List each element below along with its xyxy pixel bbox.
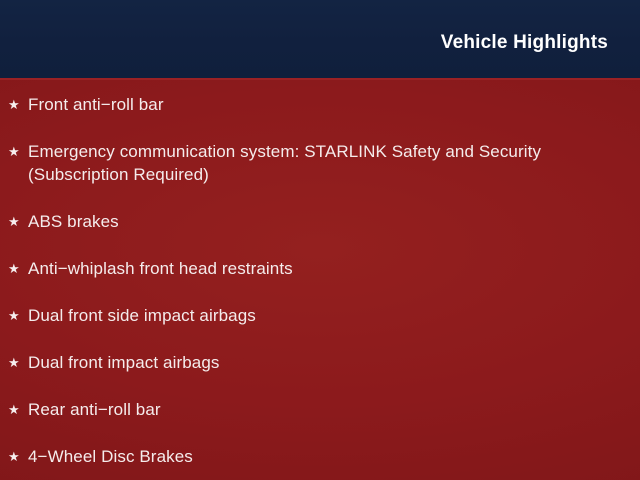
list-item: ★ Dual front impact airbags [0,351,640,374]
highlights-content-area: ★ Front anti−roll bar ★ Emergency commun… [0,80,640,480]
list-item-label: Emergency communication system: STARLINK… [28,140,606,186]
list-item-label: Anti−whiplash front head restraints [28,257,606,280]
list-item: ★ Rear anti−roll bar [0,398,640,421]
list-item: ★ Front anti−roll bar [0,93,640,116]
list-item-label: Rear anti−roll bar [28,398,606,421]
star-icon: ★ [8,210,22,233]
list-item-label: Front anti−roll bar [28,93,606,116]
star-icon: ★ [8,398,22,421]
star-icon: ★ [8,93,22,116]
star-icon: ★ [8,351,22,374]
list-item-label: 4−Wheel Disc Brakes [28,445,606,468]
page-title: Vehicle Highlights [441,33,608,52]
list-item: ★ ABS brakes [0,210,640,233]
list-item: ★ Dual front side impact airbags [0,304,640,327]
star-icon: ★ [8,140,22,163]
slide-header: Vehicle Highlights [0,0,640,78]
star-icon: ★ [8,257,22,280]
star-icon: ★ [8,445,22,468]
vehicle-highlights-slide: Vehicle Highlights ★ Front anti−roll bar… [0,0,640,480]
star-icon: ★ [8,304,22,327]
list-item: ★ 4−Wheel Disc Brakes [0,445,640,468]
list-item-label: Dual front side impact airbags [28,304,606,327]
vehicle-highlights-list: ★ Front anti−roll bar ★ Emergency commun… [0,80,640,468]
list-item-label: Dual front impact airbags [28,351,606,374]
list-item-label: ABS brakes [28,210,606,233]
list-item: ★ Emergency communication system: STARLI… [0,140,640,186]
list-item: ★ Anti−whiplash front head restraints [0,257,640,280]
